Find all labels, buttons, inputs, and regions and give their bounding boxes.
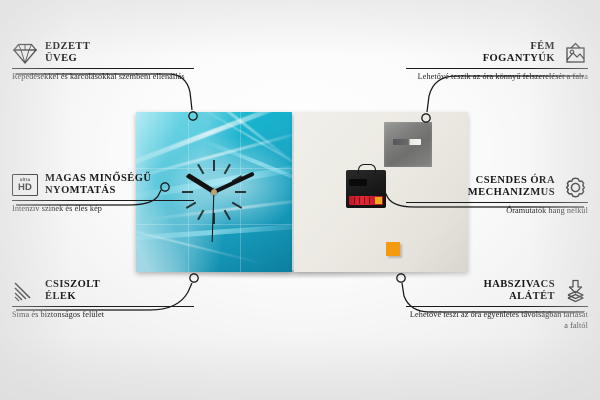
ultra-hd-badge-icon: ultra HD	[12, 172, 38, 198]
feature-header: ultra HD MAGAS MINŐSÉGŰ NYOMTATÁS	[12, 172, 194, 198]
infographic-canvas: EDZETT ÜVEG Repedésekkel és karcolásokka…	[0, 0, 600, 400]
feature-description: Sima és biztonságos felület	[12, 310, 194, 321]
polished-edge-lines-icon	[12, 278, 38, 304]
mechanism-ridge	[349, 179, 367, 186]
feature-header: CSENDES ÓRA MECHANIZMUS	[406, 174, 588, 200]
foam-pad-sticker	[386, 242, 400, 256]
hanger-slot	[393, 139, 421, 145]
gear-icon	[562, 174, 588, 200]
feature-header: HABSZIVACS ALÁTÉT	[406, 278, 588, 304]
feature-title: CSISZOLT ÉLEK	[45, 279, 100, 304]
mechanism-hook	[358, 164, 376, 174]
battery-terminal	[375, 197, 382, 204]
badge-main-label: HD	[18, 183, 32, 193]
feature-description: Repedésekkel és karcolásokkal szembeni e…	[12, 72, 194, 83]
feature-header: FÉM FOGANTYÚK	[406, 40, 588, 66]
battery	[349, 196, 383, 205]
feature-title: CSENDES ÓRA MECHANIZMUS	[468, 175, 555, 200]
metal-hanger-bracket	[384, 122, 432, 167]
feature-silent-mechanism: CSENDES ÓRA MECHANIZMUS Óramutatók hang …	[406, 174, 588, 217]
feature-divider	[12, 68, 194, 69]
feature-divider	[406, 68, 588, 69]
picture-hanger-icon	[562, 40, 588, 66]
feature-title: MAGAS MINŐSÉGŰ NYOMTATÁS	[45, 173, 151, 198]
feature-description: Lehetővé teszi az óra egyenletes távolsá…	[406, 310, 588, 331]
foam-pad-arrow-icon	[562, 278, 588, 304]
feature-header: EDZETT ÜVEG	[12, 40, 194, 66]
feature-divider	[406, 202, 588, 203]
clock-mechanism	[346, 170, 386, 208]
feature-divider	[12, 306, 194, 307]
feature-divider	[12, 200, 194, 201]
feature-divider	[406, 306, 588, 307]
feature-description: Lehetővé teszik az óra könnyű felszerelé…	[406, 72, 588, 83]
feature-title: FÉM FOGANTYÚK	[483, 41, 555, 66]
feature-title: HABSZIVACS ALÁTÉT	[484, 279, 555, 304]
feature-title: EDZETT ÜVEG	[45, 41, 90, 66]
diamond-icon	[12, 40, 38, 66]
feature-foam-pad: HABSZIVACS ALÁTÉT Lehetővé teszi az óra …	[406, 278, 588, 331]
feature-hd-print: ultra HD MAGAS MINŐSÉGŰ NYOMTATÁS Intenz…	[12, 172, 194, 215]
clock-center-cap	[211, 189, 217, 195]
feature-tempered-glass: EDZETT ÜVEG Repedésekkel és karcolásokka…	[12, 40, 194, 83]
feature-description: Óramutatók hang nélkül	[406, 206, 588, 217]
feature-polished-edges: CSISZOLT ÉLEK Sima és biztonságos felüle…	[12, 278, 194, 321]
feature-description: Intenzív színek és éles kép	[12, 204, 194, 215]
feature-header: CSISZOLT ÉLEK	[12, 278, 194, 304]
feature-metal-handles: FÉM FOGANTYÚK Lehetővé teszik az óra kön…	[406, 40, 588, 83]
